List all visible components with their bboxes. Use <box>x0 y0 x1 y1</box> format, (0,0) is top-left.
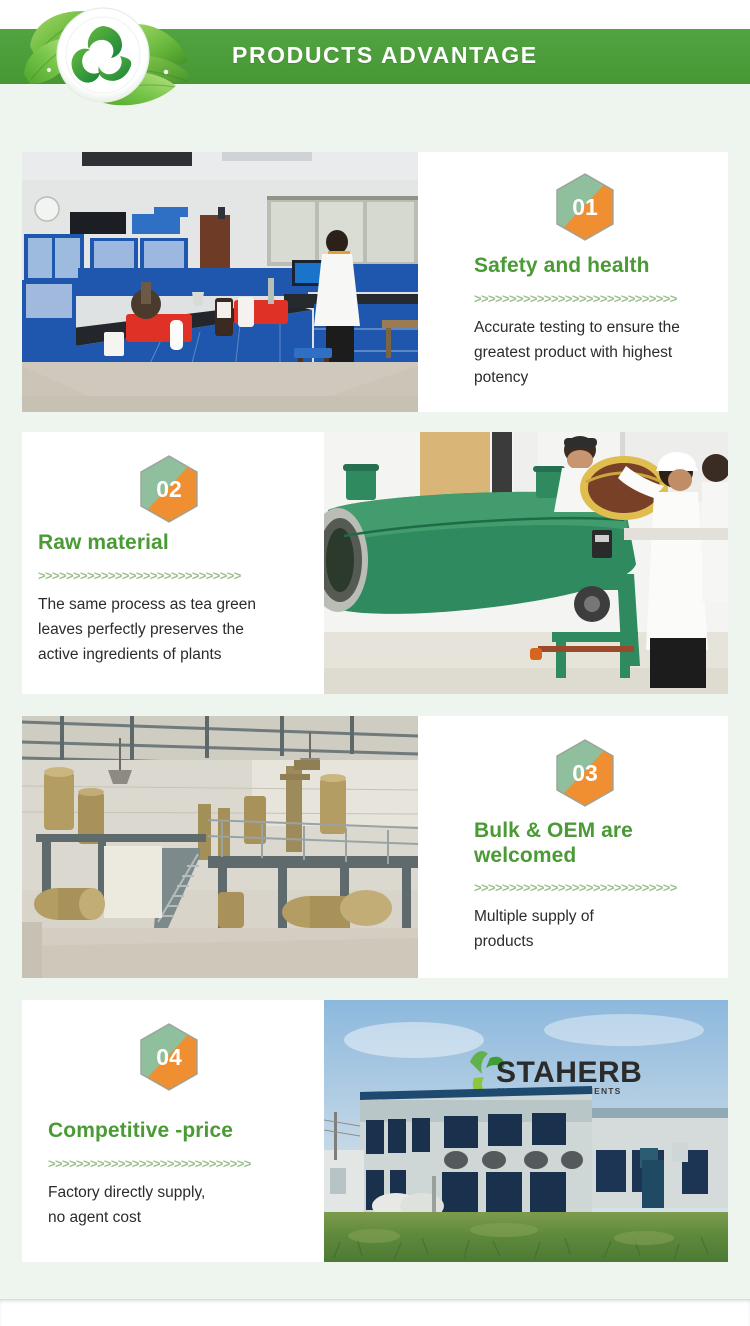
advantage-card-2-body: The same process as tea green leaves per… <box>38 592 320 667</box>
products-advantage-page: PRODUCTS ADVANTAGE <box>0 0 750 1326</box>
advantage-card-3-body: Multiple supply of products <box>474 904 726 954</box>
advantage-card-3-divider: >>>>>>>>>>>>>>>>>>>>>>>>>>>>> <box>474 880 677 895</box>
staherb-leaf-logo <box>18 2 236 110</box>
advantage-card-4: 04 Competitive -price >>>>>>>>>>>>>>>>>>… <box>22 1000 728 1262</box>
page-header: PRODUCTS ADVANTAGE <box>0 0 750 112</box>
page-title: PRODUCTS ADVANTAGE <box>232 42 538 69</box>
laboratory-photo <box>22 152 418 412</box>
svg-text:01: 01 <box>572 194 598 220</box>
advantage-card-4-divider: >>>>>>>>>>>>>>>>>>>>>>>>>>>>> <box>48 1156 251 1171</box>
factory-building-photo: STAHERB NATURAL INGREDIENTS <box>324 1000 728 1262</box>
svg-text:03: 03 <box>572 760 598 786</box>
advantage-card-2-divider: >>>>>>>>>>>>>>>>>>>>>>>>>>>>> <box>38 568 241 583</box>
advantage-card-1-body: Accurate testing to ensure the greatest … <box>474 315 726 390</box>
advantage-card-3-text: 03 Bulk & OEM are welcomed >>>>>>>>>>>>>… <box>418 716 728 978</box>
svg-text:04: 04 <box>156 1044 182 1070</box>
advantage-card-2: 02 Raw material >>>>>>>>>>>>>>>>>>>>>>>>… <box>22 432 728 694</box>
number-badge-03-hexagon-icon: 03 <box>554 738 616 808</box>
svg-text:STAHERB: STAHERB <box>496 1056 642 1089</box>
advantage-card-4-title: Competitive -price <box>48 1118 328 1143</box>
advantage-card-1: 01 Safety and health >>>>>>>>>>>>>>>>>>>… <box>22 152 728 412</box>
page-bottom-edge <box>0 1299 750 1326</box>
advantage-card-3: 03 Bulk & OEM are welcomed >>>>>>>>>>>>>… <box>22 716 728 978</box>
number-badge-01-hexagon-icon: 01 <box>554 172 616 242</box>
svg-text:02: 02 <box>156 476 182 502</box>
advantage-card-1-title: Safety and health <box>474 253 724 278</box>
advantage-card-1-text: 01 Safety and health >>>>>>>>>>>>>>>>>>>… <box>418 152 728 412</box>
number-badge-04-hexagon-icon: 04 <box>138 1022 200 1092</box>
advantage-card-2-text: 02 Raw material >>>>>>>>>>>>>>>>>>>>>>>>… <box>22 432 332 694</box>
advantage-card-1-divider: >>>>>>>>>>>>>>>>>>>>>>>>>>>>> <box>474 291 677 306</box>
number-badge-02-hexagon-icon: 02 <box>138 454 200 524</box>
advantage-card-2-title: Raw material <box>38 530 308 555</box>
extraction-workshop-photo <box>22 716 418 978</box>
advantage-card-3-title: Bulk & OEM are welcomed <box>474 818 724 868</box>
advantage-card-4-body: Factory directly supply, no agent cost <box>48 1180 316 1230</box>
advantage-card-4-text: 04 Competitive -price >>>>>>>>>>>>>>>>>>… <box>22 1000 332 1262</box>
tea-roasting-machine-photo <box>324 432 728 694</box>
